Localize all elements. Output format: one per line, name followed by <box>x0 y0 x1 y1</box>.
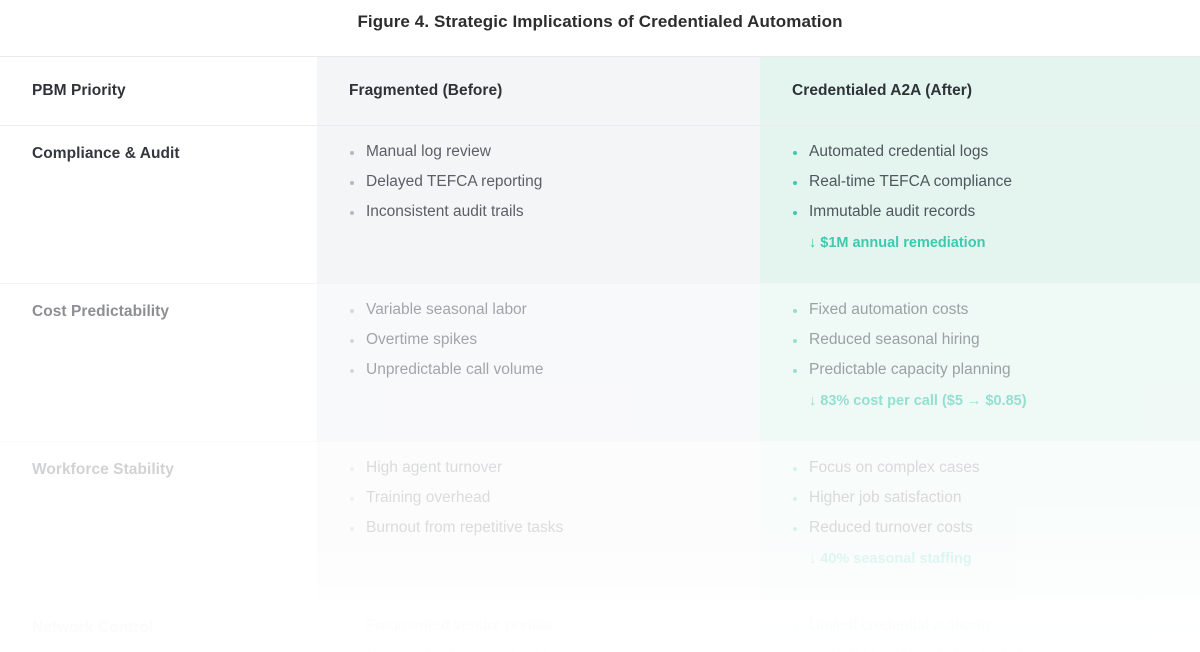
bullet-dot-icon <box>793 339 797 343</box>
list-item: Predictable capacity planning <box>792 360 1200 381</box>
list-item-label: Inconsistent audit trails <box>366 203 524 220</box>
list-item: Automated credential logs <box>792 142 1200 163</box>
row-priority-cell: Workforce Stability <box>0 442 317 599</box>
figure-container: Figure 4. Strategic Implications of Cred… <box>0 0 1200 652</box>
table-row: Network Control Fragmented vendor portal… <box>0 599 1200 652</box>
after-bullet-list: Fixed automation costs Reduced seasonal … <box>792 300 1200 381</box>
impact-metric: ↓40% seasonal staffing <box>792 551 1200 567</box>
bullet-dot-icon <box>350 527 354 531</box>
bullet-dot-icon <box>793 467 797 471</box>
list-item: High agent turnover <box>349 458 760 479</box>
list-item: Focus on complex cases <box>792 458 1200 479</box>
table-row: Compliance & Audit Manual log review Del… <box>0 125 1200 283</box>
list-item: Manual log review <box>349 142 760 163</box>
row-before-cell: Fragmented vendor portals No centralized… <box>317 600 760 652</box>
impact-metric: ↓83% cost per call ($5 → $0.85) <box>792 393 1200 409</box>
bullet-dot-icon <box>793 497 797 501</box>
list-item-label: Training overhead <box>366 489 490 506</box>
bullet-dot-icon <box>793 625 797 629</box>
column-header-label: Credentialed A2A (After) <box>792 82 1200 100</box>
impact-metric: ↓$1M annual remediation <box>792 235 1200 251</box>
before-bullet-list: Manual log review Delayed TEFCA reportin… <box>349 142 760 223</box>
bullet-dot-icon <box>793 527 797 531</box>
row-priority-cell: Cost Predictability <box>0 284 317 441</box>
list-item-label: Delayed TEFCA reporting <box>366 173 542 190</box>
list-item-label: Unpredictable call volume <box>366 361 543 378</box>
list-item-label: Centralized policy enforcement <box>809 647 1022 652</box>
header-cell-after: Credentialed A2A (After) <box>760 57 1200 125</box>
list-item: Reduced turnover costs <box>792 518 1200 539</box>
header-cell-priority: PBM Priority <box>0 57 317 125</box>
arrow-down-icon: ↓ <box>809 235 816 251</box>
after-bullet-list: Unified credential authority Centralized… <box>792 616 1200 652</box>
column-header-label: Fragmented (Before) <box>349 82 760 100</box>
list-item: Real-time TEFCA compliance <box>792 172 1200 193</box>
before-bullet-list: High agent turnover Training overhead Bu… <box>349 458 760 539</box>
list-item-label: High agent turnover <box>366 459 502 476</box>
list-item: Centralized policy enforcement <box>792 646 1200 652</box>
bullet-dot-icon <box>350 339 354 343</box>
list-item-label: Overtime spikes <box>366 331 477 348</box>
bullet-dot-icon <box>350 625 354 629</box>
priority-label: Compliance & Audit <box>32 145 317 163</box>
row-after-cell: Focus on complex cases Higher job satisf… <box>760 442 1200 599</box>
row-before-cell: Variable seasonal labor Overtime spikes … <box>317 284 760 441</box>
impact-metric-label: $1M annual remediation <box>820 235 985 251</box>
impact-metric-label: 83% cost per call ($5 → $0.85) <box>820 393 1026 409</box>
list-item: Immutable audit records <box>792 202 1200 223</box>
bullet-dot-icon <box>793 309 797 313</box>
list-item: Training overhead <box>349 488 760 509</box>
list-item-label: Reduced seasonal hiring <box>809 331 980 348</box>
row-priority-cell: Compliance & Audit <box>0 126 317 283</box>
row-after-cell: Fixed automation costs Reduced seasonal … <box>760 284 1200 441</box>
bullet-dot-icon <box>350 369 354 373</box>
list-item: Unified credential authority <box>792 616 1200 637</box>
bullet-dot-icon <box>793 151 797 155</box>
list-item-label: Automated credential logs <box>809 143 988 160</box>
row-before-cell: Manual log review Delayed TEFCA reportin… <box>317 126 760 283</box>
bullet-dot-icon <box>350 309 354 313</box>
figure-title: Figure 4. Strategic Implications of Cred… <box>0 12 1200 32</box>
list-item: Delayed TEFCA reporting <box>349 172 760 193</box>
bullet-dot-icon <box>350 467 354 471</box>
bullet-dot-icon <box>350 497 354 501</box>
list-item: Reduced seasonal hiring <box>792 330 1200 351</box>
list-item-label: Immutable audit records <box>809 203 975 220</box>
bullet-dot-icon <box>793 181 797 185</box>
priority-label: Cost Predictability <box>32 303 317 321</box>
bullet-dot-icon <box>350 211 354 215</box>
impact-metric-label: 40% seasonal staffing <box>820 551 972 567</box>
row-after-cell: Unified credential authority Centralized… <box>760 600 1200 652</box>
after-bullet-list: Focus on complex cases Higher job satisf… <box>792 458 1200 539</box>
arrow-down-icon: ↓ <box>809 393 816 409</box>
row-after-cell: Automated credential logs Real-time TEFC… <box>760 126 1200 283</box>
list-item: Variable seasonal labor <box>349 300 760 321</box>
list-item: Burnout from repetitive tasks <box>349 518 760 539</box>
list-item: Overtime spikes <box>349 330 760 351</box>
row-priority-cell: Network Control <box>0 600 317 652</box>
list-item-label: Variable seasonal labor <box>366 301 527 318</box>
list-item: Fragmented vendor portals <box>349 616 760 637</box>
list-item-label: Real-time TEFCA compliance <box>809 173 1012 190</box>
list-item: No centralized governance <box>349 646 760 652</box>
before-bullet-list: Variable seasonal labor Overtime spikes … <box>349 300 760 381</box>
column-header-label: PBM Priority <box>32 82 317 100</box>
list-item-label: Fixed automation costs <box>809 301 968 318</box>
table-row: Cost Predictability Variable seasonal la… <box>0 283 1200 441</box>
bullet-dot-icon <box>350 181 354 185</box>
list-item: Fixed automation costs <box>792 300 1200 321</box>
list-item-label: Focus on complex cases <box>809 459 980 476</box>
list-item-label: Manual log review <box>366 143 491 160</box>
arrow-down-icon: ↓ <box>809 551 816 567</box>
priority-label: Workforce Stability <box>32 461 317 479</box>
table-row: Workforce Stability High agent turnover … <box>0 441 1200 599</box>
list-item: Inconsistent audit trails <box>349 202 760 223</box>
list-item: Unpredictable call volume <box>349 360 760 381</box>
table-header-row: PBM Priority Fragmented (Before) Credent… <box>0 57 1200 125</box>
list-item-label: Reduced turnover costs <box>809 519 973 536</box>
list-item: Higher job satisfaction <box>792 488 1200 509</box>
list-item-label: Higher job satisfaction <box>809 489 962 506</box>
header-cell-before: Fragmented (Before) <box>317 57 760 125</box>
row-before-cell: High agent turnover Training overhead Bu… <box>317 442 760 599</box>
priority-label: Network Control <box>32 619 317 637</box>
list-item-label: Burnout from repetitive tasks <box>366 519 563 536</box>
list-item-label: Unified credential authority <box>809 617 993 634</box>
comparison-table: PBM Priority Fragmented (Before) Credent… <box>0 56 1200 652</box>
list-item-label: No centralized governance <box>366 647 550 652</box>
after-bullet-list: Automated credential logs Real-time TEFC… <box>792 142 1200 223</box>
list-item-label: Predictable capacity planning <box>809 361 1011 378</box>
bullet-dot-icon <box>793 369 797 373</box>
bullet-dot-icon <box>793 211 797 215</box>
before-bullet-list: Fragmented vendor portals No centralized… <box>349 616 760 652</box>
bullet-dot-icon <box>350 151 354 155</box>
list-item-label: Fragmented vendor portals <box>366 617 552 634</box>
